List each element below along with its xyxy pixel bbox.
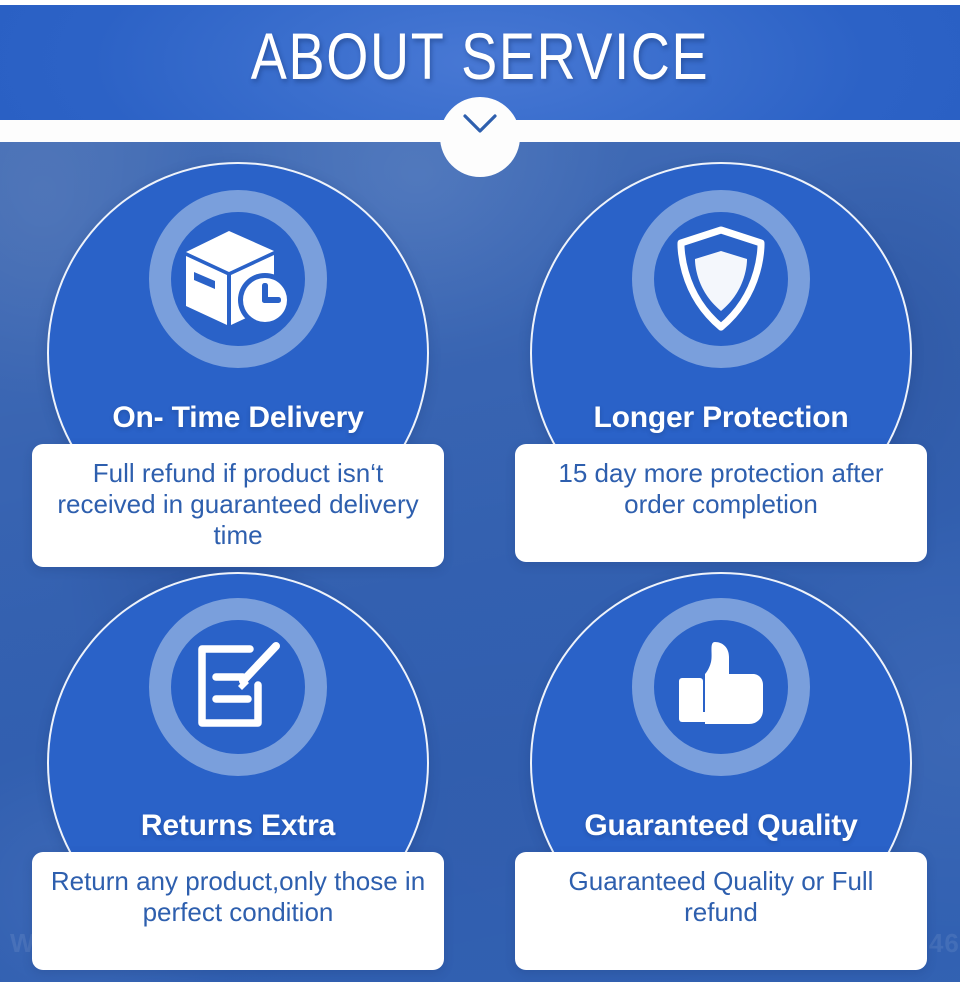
service-card-longer-protection: Longer Protection 15 day more protection… (498, 162, 944, 572)
document-edit-icon (188, 637, 288, 737)
card-caption: Full refund if product isn‘t received in… (32, 444, 444, 567)
card-title: On- Time Delivery (15, 400, 461, 436)
card-icon-slot (149, 598, 327, 776)
card-title: Returns Extra (15, 808, 461, 844)
card-title: Guaranteed Quality (498, 808, 944, 844)
card-caption: Guaranteed Quality or Full refund (515, 852, 927, 970)
scroll-down-button[interactable] (440, 97, 520, 177)
thumbs-up-icon (671, 638, 771, 736)
service-card-on-time-delivery: On- Time Delivery Full refund if product… (15, 162, 461, 572)
about-service-banner: WT1 134603 ABOUT SERVICE (0, 0, 960, 987)
package-clock-icon (182, 227, 294, 331)
card-title: Longer Protection (498, 400, 944, 436)
shield-icon (675, 226, 767, 332)
service-card-grid: On- Time Delivery Full refund if product… (0, 142, 960, 982)
page-title: ABOUT SERVICE (86, 19, 873, 93)
card-icon-slot (149, 190, 327, 368)
chevron-down-icon (463, 113, 497, 135)
service-card-returns-extra: Returns Extra Return any product,only th… (15, 570, 461, 980)
service-card-guaranteed-quality: Guaranteed Quality Guaranteed Quality or… (498, 570, 944, 980)
card-caption: 15 day more protection after order compl… (515, 444, 927, 562)
card-caption: Return any product,only those in perfect… (32, 852, 444, 970)
card-icon-slot (632, 190, 810, 368)
card-icon-slot (632, 598, 810, 776)
